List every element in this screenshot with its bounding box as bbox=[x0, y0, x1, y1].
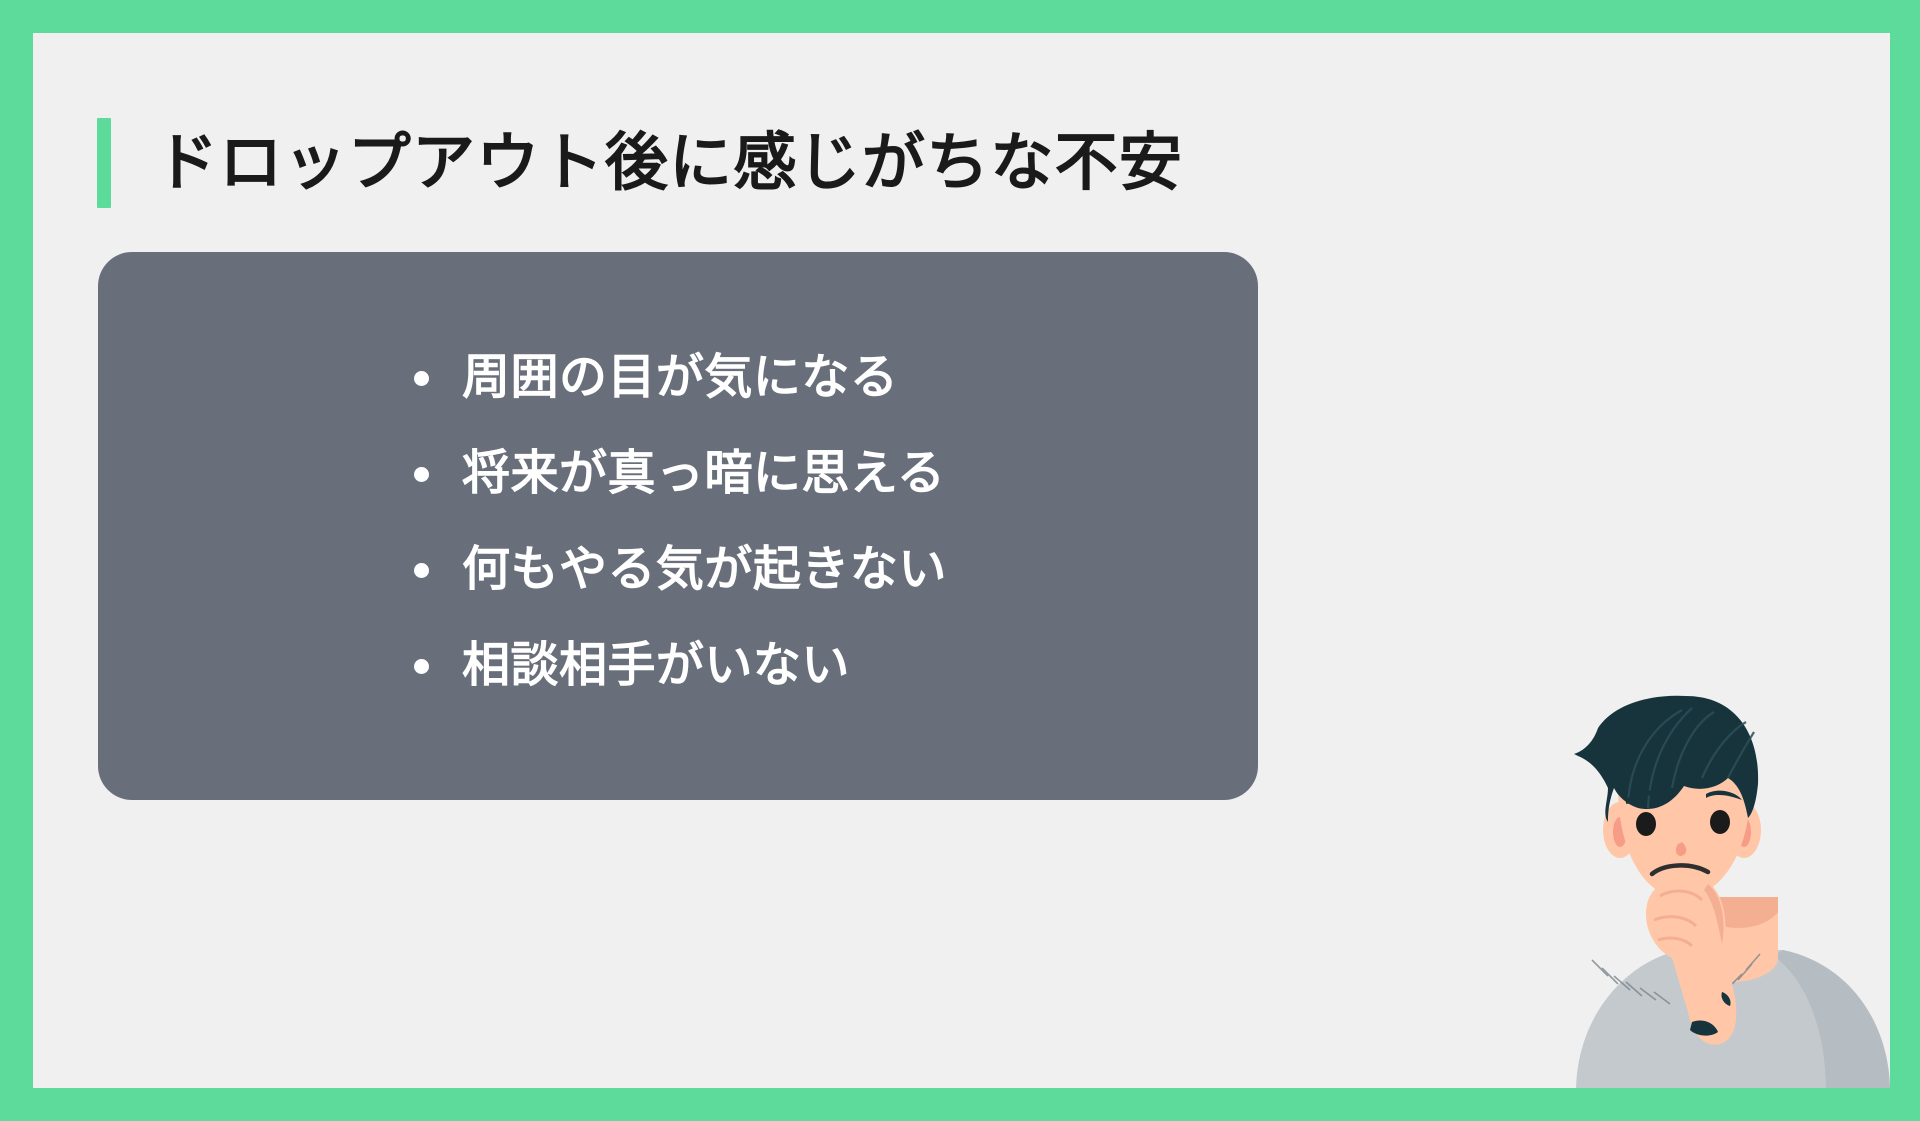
list-item: 周囲の目が気になる bbox=[414, 330, 947, 426]
list-item-label: 将来が真っ暗に思える bbox=[462, 450, 945, 498]
bullet-dot-icon bbox=[414, 563, 429, 578]
title-accent-bar bbox=[97, 118, 111, 208]
slide-frame: ドロップアウト後に感じがちな不安 周囲の目が気になる 将来が真っ暗に思える 何も… bbox=[0, 0, 1920, 1121]
list-item: 将来が真っ暗に思える bbox=[414, 426, 947, 522]
anxiety-bullet-list: 周囲の目が気になる 将来が真っ暗に思える 何もやる気が起きない 相談相手がいない bbox=[414, 330, 947, 714]
bullet-dot-icon bbox=[414, 467, 429, 482]
title-text: ドロップアウト後に感じがちな不安 bbox=[155, 132, 1183, 195]
bullet-dot-icon bbox=[414, 371, 429, 386]
list-item-label: 周囲の目が気になる bbox=[462, 354, 898, 402]
page-title: ドロップアウト後に感じがちな不安 bbox=[97, 113, 1183, 213]
list-item-label: 何もやる気が起きない bbox=[462, 546, 947, 594]
list-item: 相談相手がいない bbox=[414, 618, 947, 714]
slide-canvas: ドロップアウト後に感じがちな不安 周囲の目が気になる 将来が真っ暗に思える 何も… bbox=[33, 33, 1890, 1088]
list-item: 何もやる気が起きない bbox=[414, 522, 947, 618]
content-card: 周囲の目が気になる 将来が真っ暗に思える 何もやる気が起きない 相談相手がいない bbox=[98, 252, 1258, 800]
thinking-worried-man-illustration bbox=[1568, 692, 1890, 1088]
list-item-label: 相談相手がいない bbox=[462, 642, 850, 690]
bullet-dot-icon bbox=[414, 659, 429, 674]
